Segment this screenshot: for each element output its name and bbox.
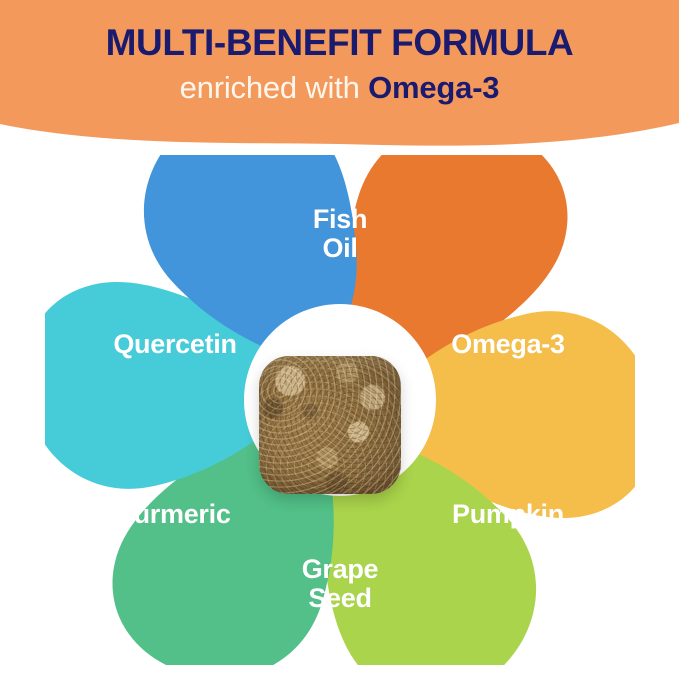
infographic-page: MULTI-BENEFIT FORMULA enriched with Omeg… [0,0,679,677]
soft-chew-treat-image [259,356,401,494]
subtitle-prefix: enriched with [180,70,368,105]
header-banner: MULTI-BENEFIT FORMULA enriched with Omeg… [0,0,679,150]
header-text-block: MULTI-BENEFIT FORMULA enriched with Omeg… [0,0,679,132]
page-subtitle: enriched with Omega-3 [180,72,500,103]
soft-chew-texture [259,356,401,494]
subtitle-accent: Omega-3 [368,70,499,105]
page-title: MULTI-BENEFIT FORMULA [106,24,574,61]
